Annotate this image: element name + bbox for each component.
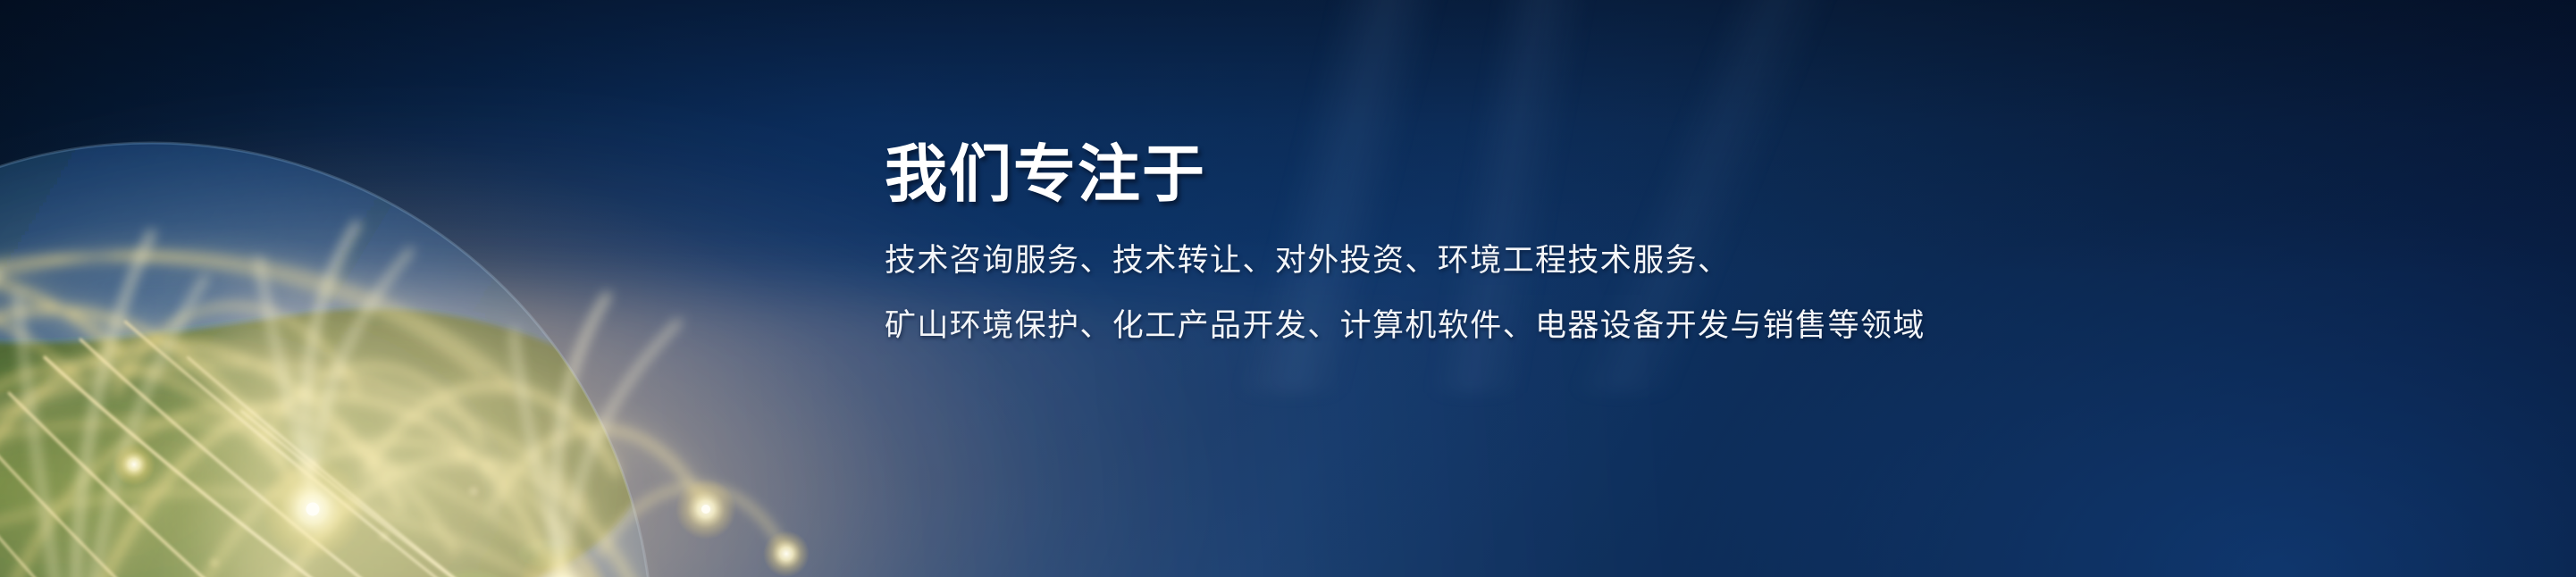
banner-headline: 我们专注于 xyxy=(885,143,2225,205)
hero-banner: 我们专注于 技术咨询服务、技术转让、对外投资、环境工程技术服务、 矿山环境保护、… xyxy=(0,0,2576,577)
banner-subline-1: 技术咨询服务、技术转让、对外投资、环境工程技术服务、 xyxy=(885,245,2225,276)
banner-copy-block: 我们专注于 技术咨询服务、技术转让、对外投资、环境工程技术服务、 矿山环境保护、… xyxy=(885,143,2225,341)
banner-subline-2: 矿山环境保护、化工产品开发、计算机软件、电器设备开发与销售等领域 xyxy=(885,310,2225,341)
